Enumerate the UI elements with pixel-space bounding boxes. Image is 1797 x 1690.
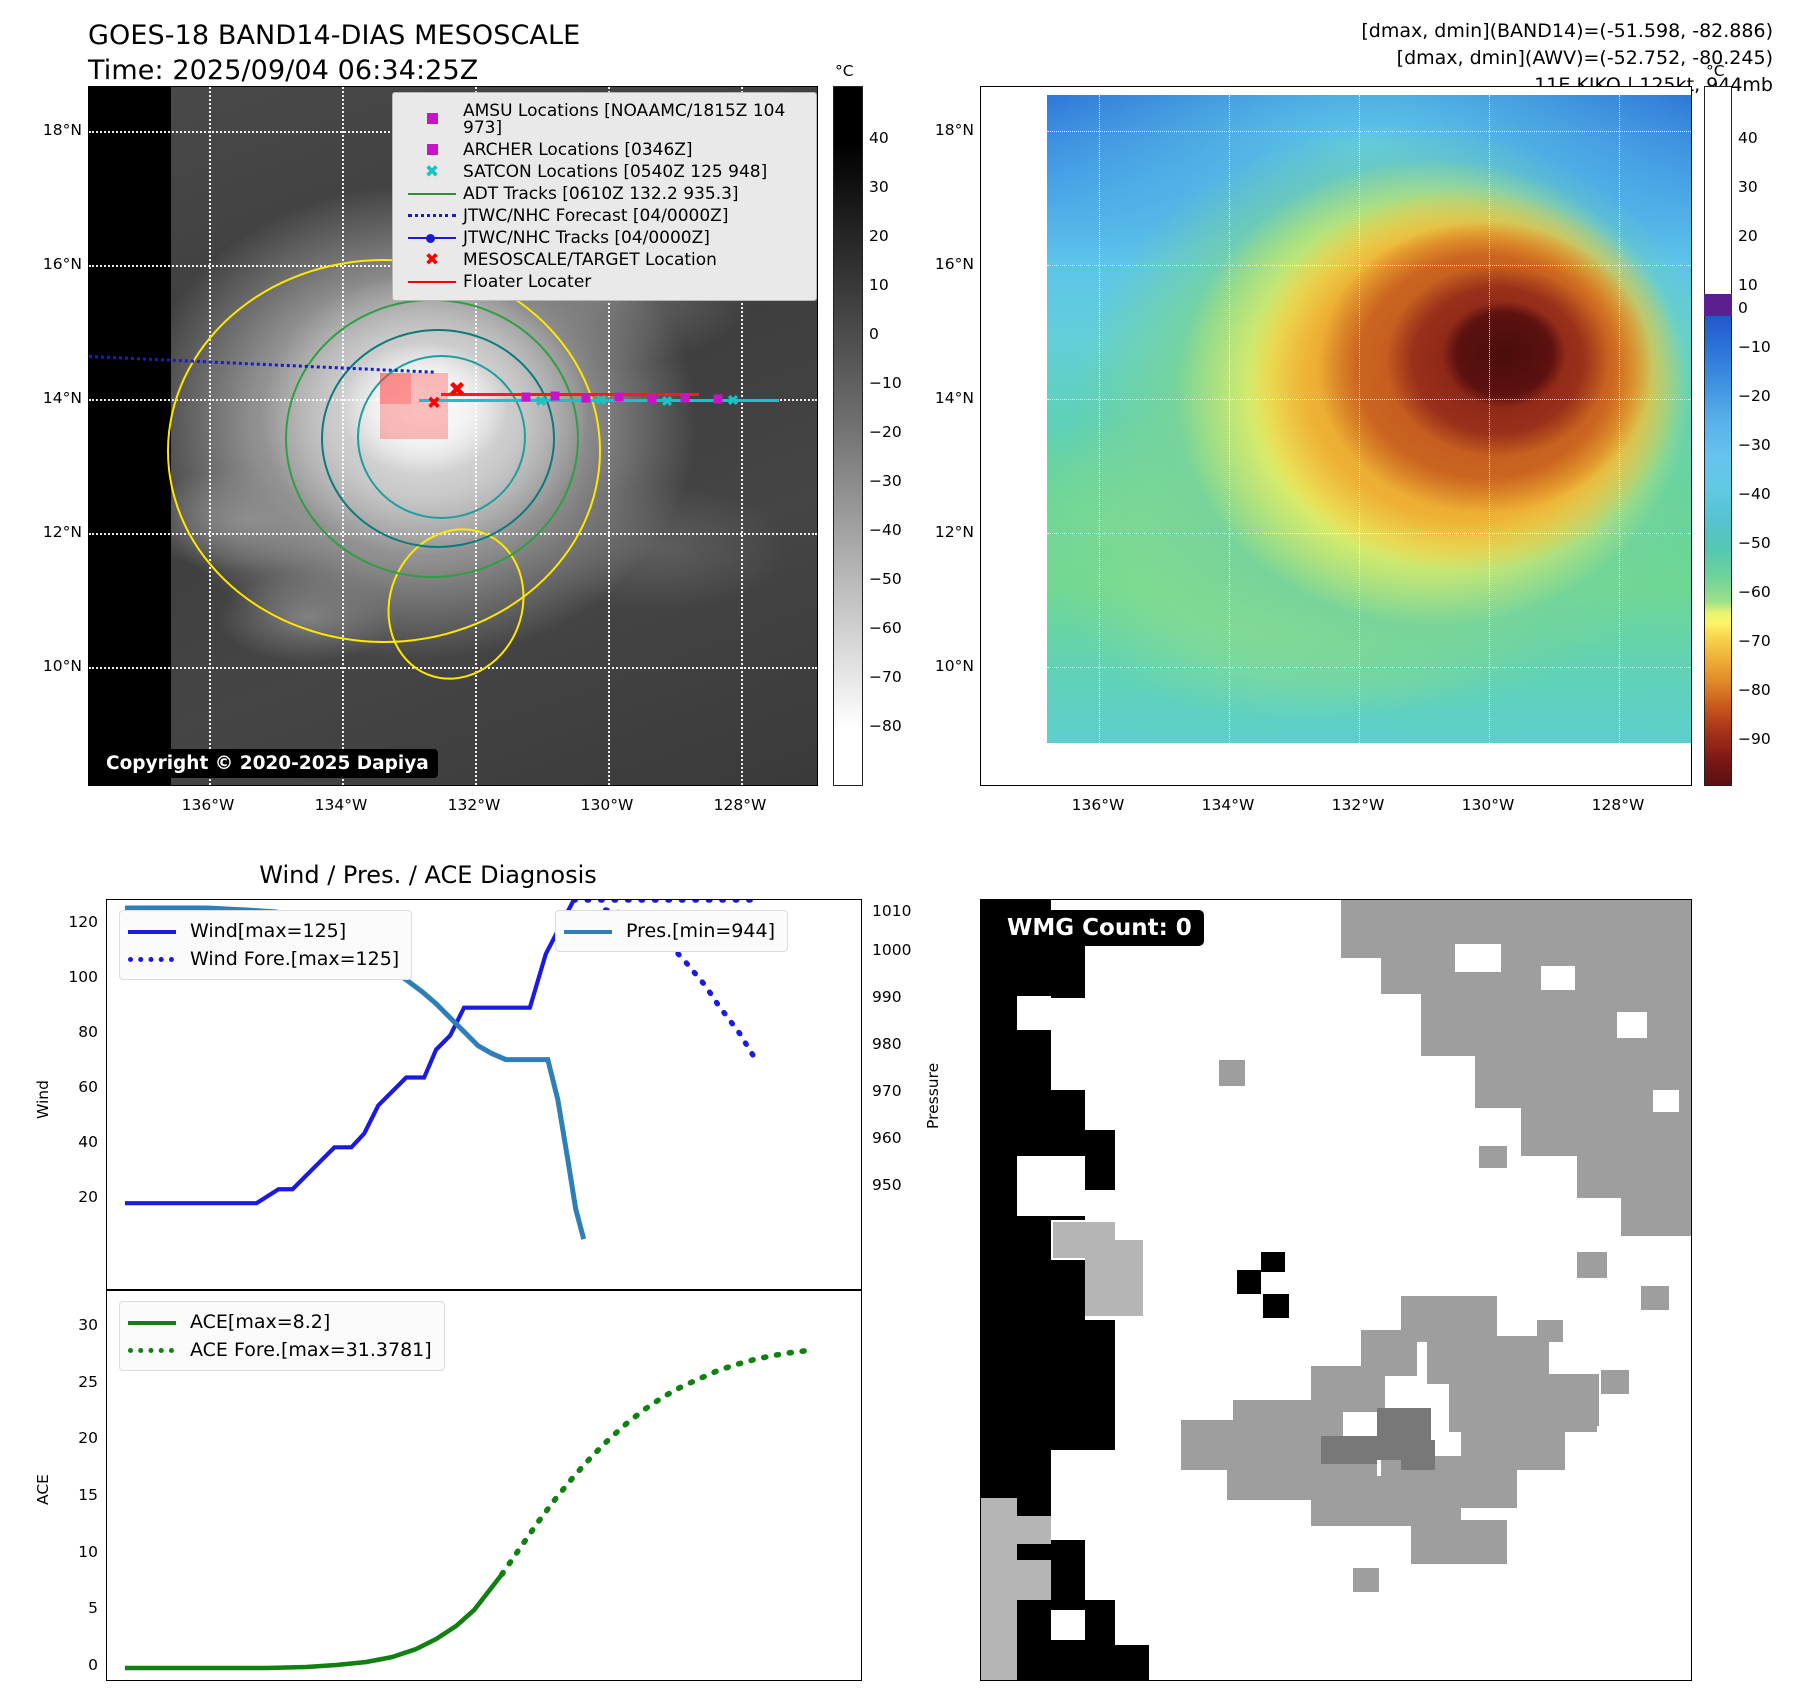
copyright-notice: Copyright © 2020-2025 Dapiya bbox=[97, 749, 438, 778]
satcon-marker-icon: ✖ bbox=[595, 394, 608, 409]
ace-chart: ACE 30 25 20 15 10 5 0 ACE[max=8.2] ACE … bbox=[106, 1290, 862, 1681]
green-dotted-line-icon bbox=[128, 1336, 190, 1364]
wind-tick: 80 bbox=[54, 1023, 98, 1041]
page-title: GOES-18 BAND14-DIAS MESOSCALE Time: 2025… bbox=[88, 18, 580, 88]
colorbar-tick: 30 bbox=[1738, 178, 1758, 196]
lat-tick: 12°N bbox=[32, 523, 82, 541]
lat-tick: 16°N bbox=[32, 255, 82, 273]
lon-tick: 128°W bbox=[714, 796, 767, 814]
amsu-marker-icon bbox=[615, 393, 624, 402]
legend-label: AMSU Locations [NOAAMC/1815Z 104 973] bbox=[463, 100, 806, 139]
magenta-square-icon bbox=[401, 100, 463, 139]
wind-tick: 40 bbox=[54, 1133, 98, 1151]
red-line-icon bbox=[401, 271, 463, 293]
colorbar-tick: 10 bbox=[1738, 276, 1758, 294]
legend-label: ARCHER Locations [0346Z] bbox=[463, 139, 806, 161]
lon-tick: 130°W bbox=[1462, 796, 1515, 814]
legend-row: ✖ SATCON Locations [0540Z 125 948] bbox=[401, 161, 806, 183]
ace-tick: 5 bbox=[54, 1599, 98, 1617]
ace-tick: 20 bbox=[54, 1429, 98, 1447]
magenta-square-icon bbox=[401, 139, 463, 161]
legend-label: Floater Locater bbox=[463, 271, 806, 293]
colorbar-tick: −10 bbox=[869, 374, 902, 392]
legend-row: ARCHER Locations [0346Z] bbox=[401, 139, 806, 161]
amsu-marker-icon bbox=[582, 394, 591, 403]
colorbar-tick: −40 bbox=[1738, 485, 1771, 503]
legend-label: ACE Fore.[max=31.3781] bbox=[190, 1336, 432, 1364]
pressure-tick: 990 bbox=[872, 988, 902, 1006]
color-image-axes[interactable] bbox=[980, 86, 1692, 786]
colorbar-unit: °C bbox=[1706, 62, 1725, 80]
lat-tick: 10°N bbox=[32, 657, 82, 675]
colorbar-tick: 0 bbox=[869, 325, 879, 343]
legend-row: Wind[max=125] bbox=[128, 917, 399, 945]
satcon-marker-icon: ✖ bbox=[661, 395, 674, 410]
title-line: GOES-18 BAND14-DIAS MESOSCALE bbox=[88, 18, 580, 53]
colorbar-tick: −30 bbox=[1738, 436, 1771, 454]
color-satellite-image bbox=[981, 87, 1691, 785]
wmg-classification-image: WMG Count: 0 bbox=[981, 900, 1691, 1680]
ace-tick: 25 bbox=[54, 1373, 98, 1391]
amsu-marker-icon bbox=[522, 393, 531, 402]
lat-tick: 14°N bbox=[32, 389, 82, 407]
diagnosis-panel-title: Wind / Pres. / ACE Diagnosis bbox=[88, 861, 768, 889]
colorbar-tick: 40 bbox=[1738, 129, 1758, 147]
red-x-icon: ✖ bbox=[401, 249, 463, 271]
legend-row: ✖ MESOSCALE/TARGET Location bbox=[401, 249, 806, 271]
lat-tick: 16°N bbox=[924, 255, 974, 273]
target-x-icon: ✖ bbox=[448, 380, 466, 401]
archer-marker-icon bbox=[714, 395, 723, 404]
pressure-tick: 960 bbox=[872, 1129, 902, 1147]
ir-map-legend: AMSU Locations [NOAAMC/1815Z 104 973] AR… bbox=[392, 92, 817, 301]
legend-row: JTWC/NHC Forecast [04/0000Z] bbox=[401, 205, 806, 227]
blue-dotted-line-icon bbox=[128, 945, 190, 973]
wind-tick: 60 bbox=[54, 1078, 98, 1096]
colorbar-tick: 40 bbox=[869, 129, 889, 147]
legend-label: Pres.[min=944] bbox=[626, 917, 775, 945]
satellite-color-panel: 18°N 16°N 14°N 12°N 10°N 136°W 134°W 132… bbox=[980, 86, 1692, 786]
lat-tick: 18°N bbox=[924, 121, 974, 139]
lon-tick: 136°W bbox=[1072, 796, 1125, 814]
legend-label: ADT Tracks [0610Z 132.2 935.3] bbox=[463, 183, 806, 205]
mesoscale-box bbox=[380, 373, 411, 404]
legend-label: MESOSCALE/TARGET Location bbox=[463, 249, 806, 271]
lat-tick: 12°N bbox=[924, 523, 974, 541]
lon-tick: 132°W bbox=[448, 796, 501, 814]
amsu-marker-icon bbox=[551, 392, 560, 401]
green-line-icon bbox=[128, 1308, 190, 1336]
ace-forecast-line bbox=[502, 1351, 805, 1574]
pressure-tick: 980 bbox=[872, 1035, 902, 1053]
colorbar-tick: −50 bbox=[869, 570, 902, 588]
wmg-panel: WMG Count: 0 bbox=[980, 899, 1692, 1681]
satellite-ir-panel: 18°N 16°N 14°N 12°N 10°N 136°W 134°W 132… bbox=[88, 86, 818, 786]
lon-tick: 130°W bbox=[581, 796, 634, 814]
lon-tick: 136°W bbox=[182, 796, 235, 814]
satcon-marker-icon: ✖ bbox=[727, 394, 740, 409]
blue-line-marker-icon bbox=[401, 227, 463, 249]
ace-series-line bbox=[125, 1574, 502, 1668]
ace-axis-label: ACE bbox=[34, 1474, 52, 1505]
lat-tick: 10°N bbox=[924, 657, 974, 675]
colorbar-tick: −40 bbox=[869, 521, 902, 539]
ir-colorbar bbox=[833, 86, 863, 786]
pressure-tick: 970 bbox=[872, 1082, 902, 1100]
legend-label: JTWC/NHC Tracks [04/0000Z] bbox=[463, 227, 806, 249]
legend-label: JTWC/NHC Forecast [04/0000Z] bbox=[463, 205, 806, 227]
legend-label: Wind[max=125] bbox=[190, 917, 399, 945]
blue-dotted-line-icon bbox=[401, 205, 463, 227]
colorbar-tick: −70 bbox=[1738, 632, 1771, 650]
legend-row: ACE Fore.[max=31.3781] bbox=[128, 1336, 432, 1364]
time-line: Time: 2025/09/04 06:34:25Z bbox=[88, 53, 580, 88]
lat-tick: 18°N bbox=[32, 121, 82, 139]
colorbar-tick: 10 bbox=[869, 276, 889, 294]
blue-line-icon bbox=[128, 917, 190, 945]
ir-colorbar-group: °C 40 30 20 10 0 −10 −20 −30 −40 −50 −60… bbox=[843, 86, 963, 786]
legend-label: Wind Fore.[max=125] bbox=[190, 945, 399, 973]
pressure-tick: 1000 bbox=[872, 941, 911, 959]
legend-row: ACE[max=8.2] bbox=[128, 1308, 432, 1336]
pressure-tick: 1010 bbox=[872, 902, 911, 920]
ace-tick: 30 bbox=[54, 1316, 98, 1334]
colorbar-purple-band bbox=[1704, 294, 1732, 316]
pressure-tick: 950 bbox=[872, 1176, 902, 1194]
pressure-legend: Pres.[min=944] bbox=[555, 910, 788, 952]
green-line-icon bbox=[401, 183, 463, 205]
colorbar-tick: −60 bbox=[869, 619, 902, 637]
steel-line-icon bbox=[564, 917, 626, 945]
lat-tick: 14°N bbox=[924, 389, 974, 407]
colorbar-tick: −10 bbox=[1738, 338, 1771, 356]
colorbar-unit: °C bbox=[835, 62, 854, 80]
lon-tick: 128°W bbox=[1592, 796, 1645, 814]
wmg-count-badge: WMG Count: 0 bbox=[995, 910, 1204, 946]
wind-pressure-axes[interactable]: Wind[max=125] Wind Fore.[max=125] Pres.[… bbox=[106, 899, 862, 1290]
ace-tick: 15 bbox=[54, 1486, 98, 1504]
legend-row: AMSU Locations [NOAAMC/1815Z 104 973] bbox=[401, 100, 806, 139]
lon-tick: 132°W bbox=[1332, 796, 1385, 814]
meta-band14: [dmax, dmin](BAND14)=(-51.598, -82.886) bbox=[1361, 18, 1773, 45]
colorbar-tick: −20 bbox=[1738, 387, 1771, 405]
legend-row: Wind Fore.[max=125] bbox=[128, 945, 399, 973]
lon-tick: 134°W bbox=[315, 796, 368, 814]
amsu-marker-icon bbox=[648, 395, 657, 404]
wind-pressure-chart: Wind Pressure 120 100 80 60 40 20 1010 1… bbox=[106, 899, 862, 1290]
colorbar-tick: −80 bbox=[869, 717, 902, 735]
ir-image-axes[interactable]: ✖ ✖ ✖ ✖ ✖ ✖ AMSU Locations [NOAAMC/1815Z… bbox=[88, 86, 818, 786]
wmg-axes[interactable]: WMG Count: 0 bbox=[980, 899, 1692, 1681]
wind-tick: 20 bbox=[54, 1188, 98, 1206]
legend-label: SATCON Locations [0540Z 125 948] bbox=[463, 161, 806, 183]
legend-row: Pres.[min=944] bbox=[564, 917, 775, 945]
legend-label: ACE[max=8.2] bbox=[190, 1308, 432, 1336]
color-colorbar-group: °C 40 30 20 10 0 −10 −20 −30 −40 −50 −60… bbox=[1716, 86, 1796, 786]
ace-tick: 10 bbox=[54, 1543, 98, 1561]
ir-satellite-image: ✖ ✖ ✖ ✖ ✖ ✖ AMSU Locations [NOAAMC/1815Z… bbox=[89, 87, 817, 785]
legend-row: Floater Locater bbox=[401, 271, 806, 293]
archer-marker-icon bbox=[681, 394, 690, 403]
legend-row: JTWC/NHC Tracks [04/0000Z] bbox=[401, 227, 806, 249]
ace-axes[interactable]: ACE[max=8.2] ACE Fore.[max=31.3781] bbox=[106, 1290, 862, 1681]
colorbar-tick: −30 bbox=[869, 472, 902, 490]
target-x-icon: ✖ bbox=[427, 396, 441, 413]
ace-legend: ACE[max=8.2] ACE Fore.[max=31.3781] bbox=[119, 1301, 445, 1371]
colorbar-tick: −70 bbox=[869, 668, 902, 686]
color-colorbar bbox=[1704, 314, 1732, 786]
wind-tick: 100 bbox=[54, 968, 98, 986]
pressure-axis-label: Pressure bbox=[924, 1063, 942, 1129]
colorbar-tick: −50 bbox=[1738, 534, 1771, 552]
wind-tick: 120 bbox=[54, 913, 98, 931]
legend-row: ADT Tracks [0610Z 132.2 935.3] bbox=[401, 183, 806, 205]
lon-tick: 134°W bbox=[1202, 796, 1255, 814]
colorbar-tick: 20 bbox=[1738, 227, 1758, 245]
colorbar-tick: 0 bbox=[1738, 299, 1748, 317]
colorbar-tick: −60 bbox=[1738, 583, 1771, 601]
wind-axis-label: Wind bbox=[34, 1080, 52, 1119]
satcon-marker-icon: ✖ bbox=[535, 395, 548, 410]
colorbar-tick: −20 bbox=[869, 423, 902, 441]
ace-tick: 0 bbox=[54, 1656, 98, 1674]
colorbar-tick: 30 bbox=[869, 178, 889, 196]
colorbar-tick: 20 bbox=[869, 227, 889, 245]
colorbar-tick: −90 bbox=[1738, 730, 1771, 748]
cyan-x-icon: ✖ bbox=[401, 161, 463, 183]
colorbar-tick: −80 bbox=[1738, 681, 1771, 699]
wind-legend: Wind[max=125] Wind Fore.[max=125] bbox=[119, 910, 412, 980]
